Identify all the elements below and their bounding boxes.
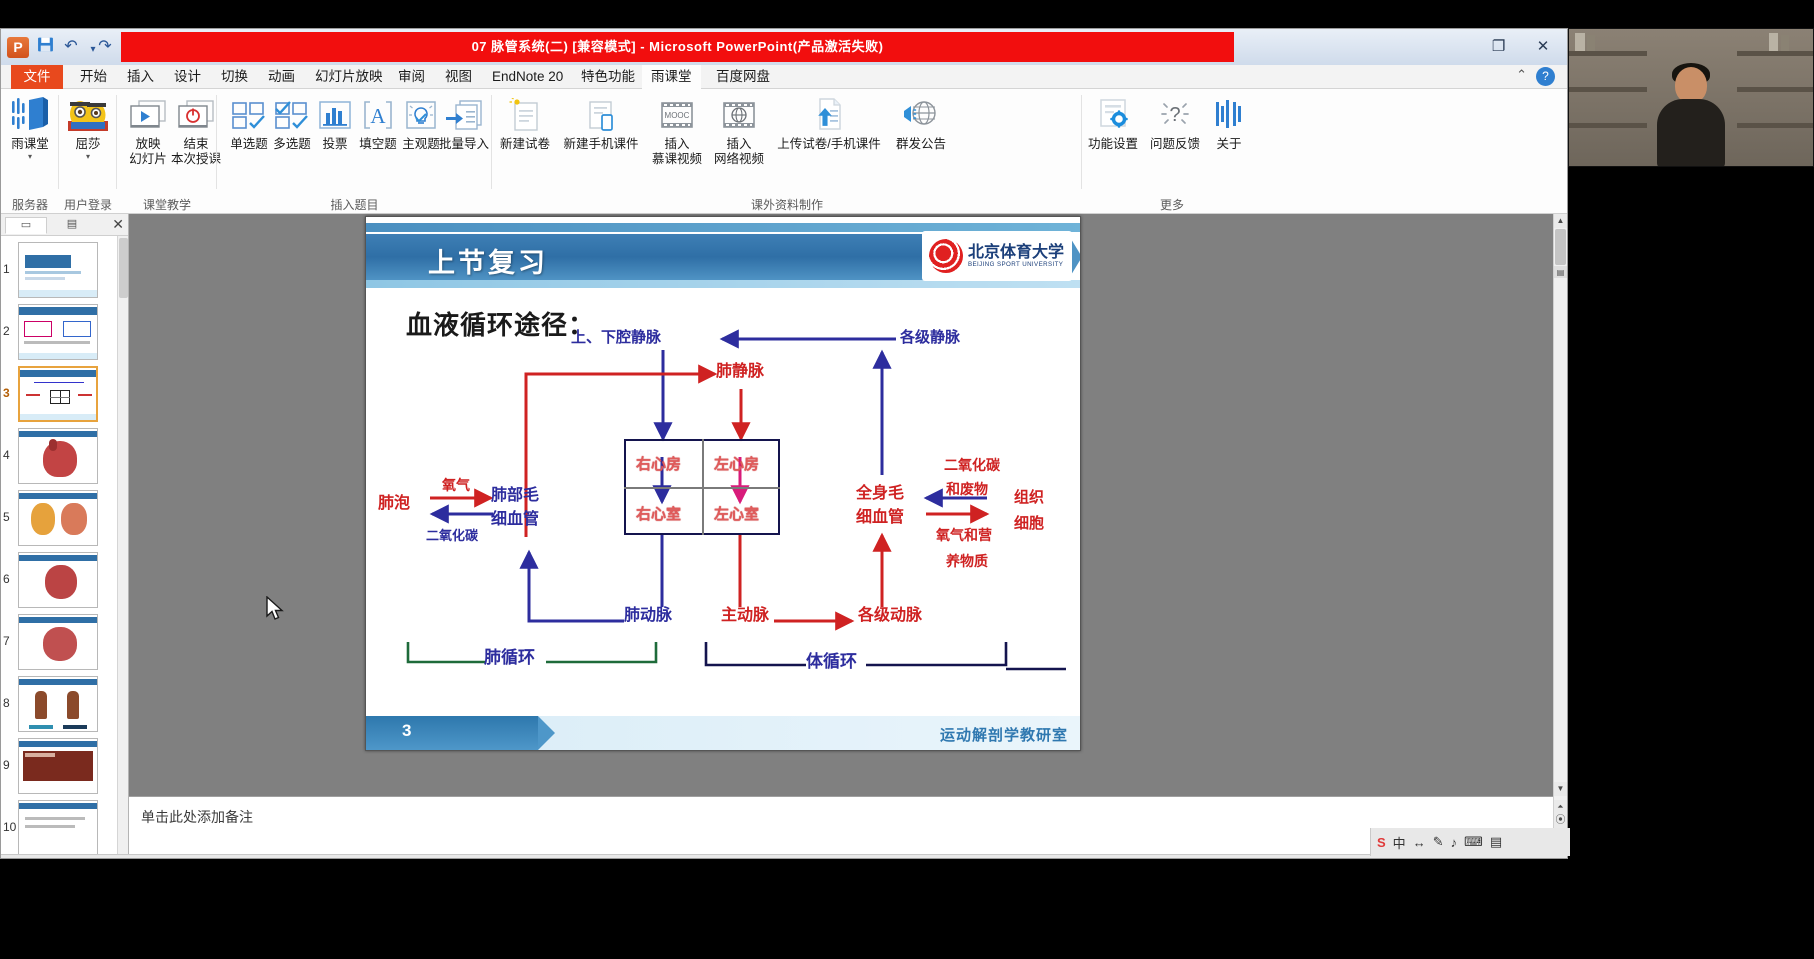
ime-pen-icon[interactable]: ✎ <box>1433 834 1444 850</box>
thumbnail-5[interactable]: 5 <box>1 490 117 548</box>
svg-text:MOOC: MOOC <box>665 111 690 120</box>
thumbnail-number: 9 <box>3 758 10 772</box>
webcam-video[interactable] <box>1568 28 1814 167</box>
label-aorta: 主动脉 <box>721 607 769 624</box>
label-all-arteries: 各级动脉 <box>858 607 922 624</box>
tab-baidu-netdisk[interactable]: 百度网盘 <box>707 65 779 89</box>
mooc-video-icon: MOOC <box>646 93 708 137</box>
svg-text:?: ? <box>1169 104 1180 126</box>
ime-keyboard-icon[interactable]: ⌨ <box>1464 834 1483 850</box>
broadcast-icon <box>888 93 954 137</box>
shelf-2 <box>1569 87 1647 92</box>
label-cell: 细胞 <box>1014 515 1044 532</box>
thumbnail-scrollbar[interactable] <box>117 236 128 854</box>
close-window-button[interactable]: ✕ <box>1523 34 1563 60</box>
new-exam-label: 新建试卷 <box>492 137 558 152</box>
insert-mooc-video-label: 插入 <box>646 137 708 152</box>
thumbnail-image <box>18 490 98 546</box>
batch-import-button[interactable]: 批量导入 <box>435 93 493 152</box>
label-systemic-circulation: 体循环 <box>806 653 857 670</box>
notes-pane[interactable]: 单击此处添加备注 <box>129 796 1553 854</box>
svg-text:A: A <box>370 104 386 128</box>
ime-menu-icon[interactable]: ▤ <box>1490 834 1502 850</box>
label-lung-capillary-2: 细血管 <box>491 511 539 528</box>
notes-placeholder: 单击此处添加备注 <box>129 797 1553 837</box>
thumbnail-number: 2 <box>3 324 10 338</box>
ribbon-group-label-extracurricular: 课外资料制作 <box>492 196 1082 213</box>
label-alveoli: 肺泡 <box>378 495 410 512</box>
book-4 <box>1781 35 1789 51</box>
thumbnail-4[interactable]: 4 <box>1 428 117 486</box>
presenter <box>1655 67 1727 167</box>
window-buttons: ❐ ✕ <box>1479 34 1563 60</box>
thumbnail-2[interactable]: 2 <box>1 304 117 362</box>
ime-voice-icon[interactable]: ♪ <box>1451 835 1458 850</box>
tab-home[interactable]: 开始 <box>71 65 116 89</box>
ribbon-tabs: 文件 开始 插入 设计 切换 动画 幻灯片放映 审阅 视图 EndNote 20… <box>1 65 1567 89</box>
scrollbar-thumb[interactable] <box>1555 229 1566 265</box>
tab-file[interactable]: 文件 <box>11 65 63 89</box>
new-mobile-courseware-label: 新建手机课件 <box>558 137 644 152</box>
broadcast-announcement-button[interactable]: 群发公告 <box>888 93 954 152</box>
tab-slides[interactable]: ▭ <box>5 217 47 234</box>
tab-slideshow[interactable]: 幻灯片放映 <box>306 65 392 89</box>
ime-chinese-icon[interactable]: 中 <box>1393 833 1406 852</box>
insert-web-video-label: 插入 <box>708 137 770 152</box>
slide-page-number: 3 <box>402 721 411 741</box>
ribbon-group-label-classroom: 课堂教学 <box>117 196 217 213</box>
batch-import-label: 批量导入 <box>435 137 493 152</box>
window-title: 07 脉管系统(二) [兼容模式] - Microsoft PowerPoint… <box>121 32 1234 62</box>
screen: P ↶ ▾ ↷ ⌄ 07 脉管系统(二) [兼容模式] - Microsoft … <box>0 0 1814 959</box>
mouse-cursor <box>266 596 286 624</box>
thumbnail-1[interactable]: 1 <box>1 242 117 300</box>
label-vena-cava: 上、下腔静脉 <box>571 329 661 346</box>
ime-toolbar: S 中 ↔ ✎ ♪ ⌨ ▤ <box>1370 828 1570 856</box>
app-logo-icon: P <box>7 37 29 58</box>
rain-classroom-button[interactable]: 雨课堂 ▾ <box>1 93 59 162</box>
undo-icon[interactable]: ↶ <box>59 36 83 58</box>
close-panel-icon[interactable]: ✕ <box>112 216 124 233</box>
ribbon: 雨课堂 ▾ 服务器 <box>1 89 1567 214</box>
label-oxygen-nutrients-2: 养物质 <box>946 553 988 570</box>
book-3 <box>1769 33 1778 51</box>
label-body-capillary-1: 全身毛 <box>856 485 904 502</box>
slide-department: 运动解剖学教研室 <box>940 724 1068 745</box>
collapse-ribbon-icon[interactable]: ⌃ <box>1516 67 1527 83</box>
feature-settings-label: 功能设置 <box>1082 137 1144 152</box>
save-icon[interactable] <box>33 36 57 58</box>
thumbnail-image <box>18 304 98 360</box>
slide-vertical-scrollbar[interactable]: ▲ ▤ ▼ ⏶ ⦿ ⏷ <box>1553 214 1567 854</box>
broadcast-announcement-label: 群发公告 <box>888 137 954 152</box>
thumbnail-image <box>18 800 98 856</box>
tab-features[interactable]: 特色功能 <box>572 65 644 89</box>
user-avatar-icon <box>59 93 117 137</box>
select-browse-object-icon[interactable]: ⦿ <box>1554 814 1567 828</box>
tab-animation[interactable]: 动画 <box>259 65 304 89</box>
presenter-body <box>1657 99 1725 167</box>
tab-rain-classroom[interactable]: 雨课堂 <box>642 65 701 89</box>
rain-classroom-icon <box>1 93 59 137</box>
thumbnail-number: 1 <box>3 262 10 276</box>
web-video-icon <box>708 93 770 137</box>
rain-classroom-dropdown-icon[interactable]: ▾ <box>1 152 59 162</box>
thumbnail-8[interactable]: 8 <box>1 676 117 734</box>
ribbon-group-user-login: 屈莎 ▾ 用户登录 <box>59 89 117 195</box>
shelf-5 <box>1737 87 1814 92</box>
tab-view[interactable]: 视图 <box>436 65 481 89</box>
workspace: ▭ ▤ ✕ 1 2 <box>1 214 1567 854</box>
feedback-button[interactable]: ? 问题反馈 <box>1144 93 1206 152</box>
slide-panel-tabs: ▭ ▤ ✕ <box>1 214 128 236</box>
thumbnail-image <box>18 428 98 484</box>
thumbnail-3[interactable]: 3 <box>1 366 117 424</box>
presenter-head <box>1675 67 1707 103</box>
settings-gear-icon <box>1082 93 1144 137</box>
label-waste: 和废物 <box>946 481 988 498</box>
ribbon-group-label-server: 服务器 <box>1 196 59 213</box>
heart-horizontal-divider <box>624 487 780 489</box>
ribbon-group-label-insert-question: 插入题目 <box>217 196 492 213</box>
powerpoint-window: P ↶ ▾ ↷ ⌄ 07 脉管系统(二) [兼容模式] - Microsoft … <box>0 28 1568 859</box>
upload-exam-courseware-label: 上传试卷/手机课件 <box>770 137 888 152</box>
feedback-question-icon: ? <box>1144 93 1206 137</box>
label-pulmonary-circulation: 肺循环 <box>484 649 535 666</box>
insert-web-video-label2: 网络视频 <box>708 152 770 167</box>
status-bar: 幻灯片 第 3 张，共 42 张 "574TGp_natural_light" … <box>1 854 1567 859</box>
thumbnail-6[interactable]: 6 <box>1 552 117 610</box>
upload-exam-courseware-button[interactable]: 上传试卷/手机课件 <box>770 93 888 152</box>
upload-icon <box>770 93 888 137</box>
thumbnail-scrollbar-thumb[interactable] <box>119 238 128 298</box>
thumbnail-number: 5 <box>3 510 10 524</box>
thumbnail-number: 10 <box>3 820 16 834</box>
sogou-icon[interactable]: S <box>1377 835 1386 850</box>
ribbon-group-more: 功能设置 ? 问题反馈 <box>1082 89 1262 195</box>
new-mobile-courseware-button[interactable]: 新建手机课件 <box>558 93 644 152</box>
insert-mooc-video-label2: 慕课视频 <box>646 152 708 167</box>
thumbnail-10[interactable]: 10 <box>1 800 117 858</box>
label-all-veins: 各级静脉 <box>900 329 960 346</box>
restore-window-button[interactable]: ❐ <box>1479 34 1519 60</box>
label-pulmonary-artery: 肺动脉 <box>624 607 672 624</box>
help-icon[interactable]: ? <box>1536 67 1555 86</box>
about-button[interactable]: 关于 <box>1206 93 1252 152</box>
scroll-up-icon[interactable]: ▲ <box>1554 214 1567 228</box>
thumbnail-number: 4 <box>3 448 10 462</box>
thumbnail-number: 8 <box>3 696 10 710</box>
tab-endnote[interactable]: EndNote 20 <box>483 65 572 89</box>
shelf-6 <box>1737 123 1814 128</box>
ribbon-group-extracurricular: 新建试卷 新建手机课件 <box>492 89 1082 195</box>
previous-slide-icon[interactable]: ⏶ <box>1554 800 1567 814</box>
book-1 <box>1575 33 1585 51</box>
slide-thumbnail-panel: ▭ ▤ ✕ 1 2 <box>1 214 129 854</box>
label-lung-capillary-1: 肺部毛 <box>491 487 539 504</box>
slide-footer: 3 运动解剖学教研室 <box>366 716 1081 750</box>
user-dropdown-icon[interactable]: ▾ <box>59 152 117 162</box>
scroll-pane-marker: ▤ <box>1554 266 1567 278</box>
new-mobile-courseware-icon <box>558 93 644 137</box>
thumbnail-number: 7 <box>3 634 10 648</box>
thumbnail-image <box>18 676 98 732</box>
heart-cell-right-ventricle: 右心室 <box>636 503 681 524</box>
slide-editing-area: 上节复习 北京体育大学 BEIJING SPORT UNIVERSITY 血液循… <box>129 214 1553 794</box>
thumbnail-number: 3 <box>3 386 10 400</box>
shelf-1 <box>1569 51 1647 56</box>
tab-design[interactable]: 设计 <box>165 65 210 89</box>
user-name-label: 屈莎 <box>59 137 117 152</box>
quick-access-toolbar: P ↶ ▾ ↷ ⌄ 07 脉管系统(二) [兼容模式] - Microsoft … <box>1 29 1567 65</box>
label-body-capillary-2: 细血管 <box>856 509 904 526</box>
about-icon <box>1206 93 1252 137</box>
label-tissue: 组织 <box>1014 489 1044 506</box>
new-exam-button[interactable]: 新建试卷 <box>492 93 558 152</box>
shelf-3 <box>1569 123 1647 128</box>
batch-import-icon <box>435 93 493 137</box>
ribbon-group-server: 雨课堂 ▾ 服务器 <box>1 89 59 195</box>
new-exam-icon <box>492 93 558 137</box>
tab-outline[interactable]: ▤ <box>51 217 93 234</box>
thumbnail-image <box>18 614 98 670</box>
thumbnail-image <box>18 242 98 298</box>
feature-settings-button[interactable]: 功能设置 <box>1082 93 1144 152</box>
insert-mooc-video-button[interactable]: MOOC 插入 慕课视频 <box>646 93 708 167</box>
label-co2-right: 二氧化碳 <box>944 457 1000 474</box>
heart-cell-left-ventricle: 左心室 <box>714 503 759 524</box>
shelf-4 <box>1737 51 1814 56</box>
thumbnail-image <box>18 738 98 794</box>
label-oxygen-nutrients-1: 氧气和营 <box>936 527 992 544</box>
heart-cell-right-atrium: 右心房 <box>636 453 681 474</box>
feedback-label: 问题反馈 <box>1144 137 1206 152</box>
tab-insert[interactable]: 插入 <box>118 65 163 89</box>
thumbnail-image <box>18 366 98 422</box>
tab-transition[interactable]: 切换 <box>212 65 257 89</box>
ribbon-group-label-user-login: 用户登录 <box>59 196 117 213</box>
ribbon-group-classroom: 放映 幻灯片 结束 本次授课 <box>117 89 217 195</box>
label-co2-left: 二氧化碳 <box>426 527 478 544</box>
tab-review[interactable]: 审阅 <box>389 65 434 89</box>
ribbon-group-label-more: 更多 <box>1082 196 1262 213</box>
thumbnail-number: 6 <box>3 572 10 586</box>
ribbon-group-insert-question: 单选题 多选题 <box>217 89 492 195</box>
book-2 <box>1587 35 1595 51</box>
thumbnail-image <box>18 552 98 608</box>
rain-classroom-label: 雨课堂 <box>1 137 59 152</box>
label-pulmonary-vein: 肺静脉 <box>716 363 764 380</box>
redo-icon[interactable]: ↷ <box>93 36 117 58</box>
label-oxygen: 氧气 <box>442 477 470 494</box>
ime-switch-icon[interactable]: ↔ <box>1413 835 1426 850</box>
about-label: 关于 <box>1206 137 1252 152</box>
scroll-down-icon[interactable]: ▼ <box>1554 782 1567 796</box>
insert-web-video-button[interactable]: 插入 网络视频 <box>708 93 770 167</box>
thumbnail-9[interactable]: 9 <box>1 738 117 796</box>
user-account-button[interactable]: 屈莎 ▾ <box>59 93 117 162</box>
slide-footer-tab <box>366 716 538 750</box>
current-slide[interactable]: 上节复习 北京体育大学 BEIJING SPORT UNIVERSITY 血液循… <box>365 216 1081 751</box>
heart-cell-left-atrium: 左心房 <box>714 453 759 474</box>
thumbnail-7[interactable]: 7 <box>1 614 117 672</box>
